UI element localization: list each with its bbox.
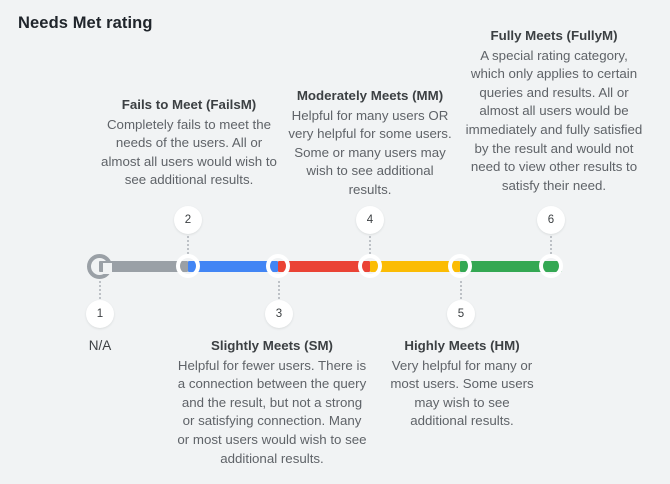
scale-node-bubble-1[interactable]: 1: [86, 300, 114, 328]
scale-node-ring-4[interactable]: [358, 254, 382, 278]
scale-segment-fails-to-meet[interactable]: [188, 261, 278, 272]
caption-fails-to-meet: Fails to Meet (FailsM) Completely fails …: [98, 96, 280, 190]
scale-node-ring-2[interactable]: [176, 254, 200, 278]
caption-fully-meets-body: A special rating category, which only ap…: [466, 48, 643, 193]
caption-fully-meets: Fully Meets (FullyM) A special rating ca…: [462, 27, 646, 195]
scale-node-connector-5: [460, 281, 464, 299]
caption-moderately-meets-body: Helpful for many users OR very helpful f…: [288, 108, 451, 197]
caption-na-label: N/A: [60, 338, 140, 353]
scale-node-bubble-6[interactable]: 6: [537, 206, 565, 234]
caption-slightly-meets-body: Helpful for fewer users. There is a conn…: [177, 358, 366, 466]
scale-segment-highly-meets[interactable]: [460, 261, 562, 272]
scale-node-connector-4: [369, 236, 373, 254]
scale-segment-slightly-meets[interactable]: [278, 261, 370, 272]
scale-node-bubble-4[interactable]: 4: [356, 206, 384, 234]
scale-node-ring-5[interactable]: [448, 254, 472, 278]
caption-highly-meets-title: Highly Meets (HM): [388, 337, 536, 356]
scale-node-label-5: 5: [458, 308, 464, 320]
scale-slider-handle[interactable]: [87, 254, 112, 279]
scale-node-connector-1: [99, 281, 103, 299]
caption-moderately-meets-title: Moderately Meets (MM): [288, 87, 452, 106]
scale-node-connector-6: [550, 236, 554, 254]
scale-segment-moderately-meets[interactable]: [370, 261, 460, 272]
scale-node-bubble-2[interactable]: 2: [174, 206, 202, 234]
scale-node-connector-3: [278, 281, 282, 299]
caption-fails-to-meet-title: Fails to Meet (FailsM): [98, 96, 280, 115]
scale-node-connector-2: [187, 236, 191, 254]
caption-fails-to-meet-body: Completely fails to meet the needs of th…: [101, 117, 277, 188]
scale-node-label-3: 3: [276, 308, 282, 320]
page-title: Needs Met rating: [18, 14, 153, 33]
caption-moderately-meets: Moderately Meets (MM) Helpful for many u…: [288, 87, 452, 200]
scale-node-label-6: 6: [548, 214, 554, 226]
caption-slightly-meets-title: Slightly Meets (SM): [177, 337, 367, 356]
scale-node-label-1: 1: [97, 308, 103, 320]
caption-slightly-meets: Slightly Meets (SM) Helpful for fewer us…: [177, 337, 367, 468]
scale-node-bubble-3[interactable]: 3: [265, 300, 293, 328]
needs-met-rating-diagram: Needs Met rating Fails to Meet (FailsM) …: [0, 0, 670, 484]
caption-highly-meets: Highly Meets (HM) Very helpful for many …: [388, 337, 536, 431]
caption-highly-meets-body: Very helpful for many or most users. Som…: [390, 358, 533, 429]
scale-node-ring-6[interactable]: [539, 254, 563, 278]
scale-segment-na[interactable]: [99, 261, 188, 272]
scale-node-label-4: 4: [367, 214, 373, 226]
scale-node-ring-3[interactable]: [266, 254, 290, 278]
caption-fully-meets-title: Fully Meets (FullyM): [462, 27, 646, 46]
scale-node-bubble-5[interactable]: 5: [447, 300, 475, 328]
scale-node-label-2: 2: [185, 214, 191, 226]
